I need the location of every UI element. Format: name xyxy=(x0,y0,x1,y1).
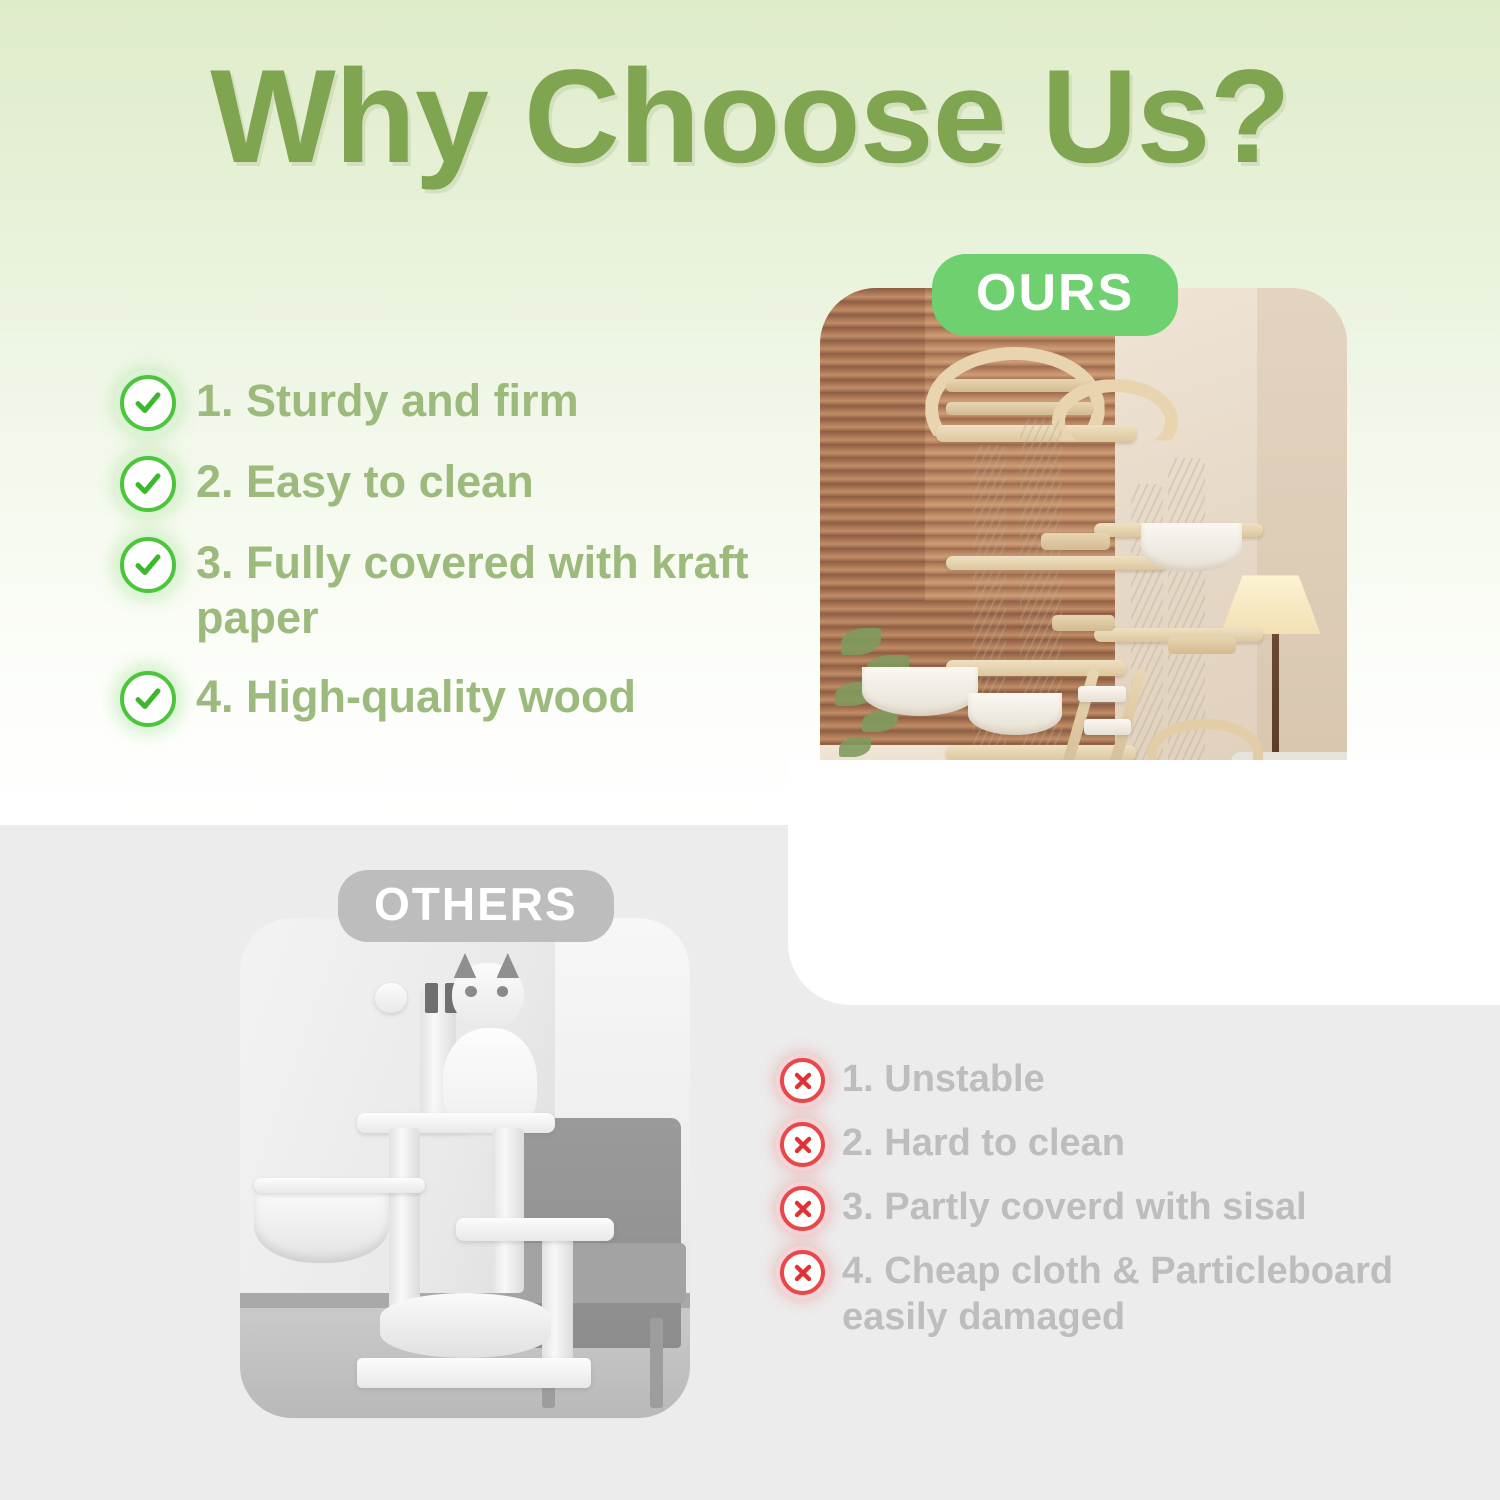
cons-item-text-3: 3. Partly coverd with sisal xyxy=(842,1183,1307,1230)
cross-icon xyxy=(780,1058,825,1103)
ours-section: Why Choose Us? 1. Sturdy and firm 2. Eas… xyxy=(0,0,1500,830)
pros-list: 1. Sturdy and firm 2. Easy to clean 3. F… xyxy=(120,372,800,749)
pros-list-item: 1. Sturdy and firm xyxy=(120,372,800,431)
cross-icon xyxy=(780,1122,825,1167)
pros-list-item: 4. High-quality wood xyxy=(120,668,800,727)
others-product-photo xyxy=(240,918,690,1418)
pros-list-item: 2. Easy to clean xyxy=(120,453,800,512)
cross-icon xyxy=(780,1186,825,1231)
ours-badge: OURS xyxy=(932,254,1178,336)
cross-icon xyxy=(780,1250,825,1295)
cons-list-item: 2. Hard to clean xyxy=(780,1119,1470,1167)
cons-list-item: 4. Cheap cloth & Particleboard easily da… xyxy=(780,1247,1470,1341)
white-divider-panel xyxy=(788,825,1500,1005)
cons-list-item: 3. Partly coverd with sisal xyxy=(780,1183,1470,1231)
check-icon xyxy=(120,537,176,593)
pros-list-item: 3. Fully covered with kraft paper xyxy=(120,534,800,646)
cons-item-text-1: 1. Unstable xyxy=(842,1055,1045,1102)
cons-list: 1. Unstable 2. Hard to clean 3. Partly c… xyxy=(780,1055,1470,1357)
page-title: Why Choose Us? xyxy=(0,48,1500,188)
cons-item-text-4: 4. Cheap cloth & Particleboard easily da… xyxy=(842,1247,1470,1341)
check-icon xyxy=(120,456,176,512)
pros-item-text-4: 4. High-quality wood xyxy=(196,668,636,725)
cons-list-item: 1. Unstable xyxy=(780,1055,1470,1103)
check-icon xyxy=(120,375,176,431)
cons-item-text-2: 2. Hard to clean xyxy=(842,1119,1125,1166)
pros-item-text-3: 3. Fully covered with kraft paper xyxy=(196,534,800,646)
check-icon xyxy=(120,671,176,727)
pros-item-text-2: 2. Easy to clean xyxy=(196,453,534,510)
others-badge: OTHERS xyxy=(338,870,614,942)
pros-item-text-1: 1. Sturdy and firm xyxy=(196,372,579,429)
